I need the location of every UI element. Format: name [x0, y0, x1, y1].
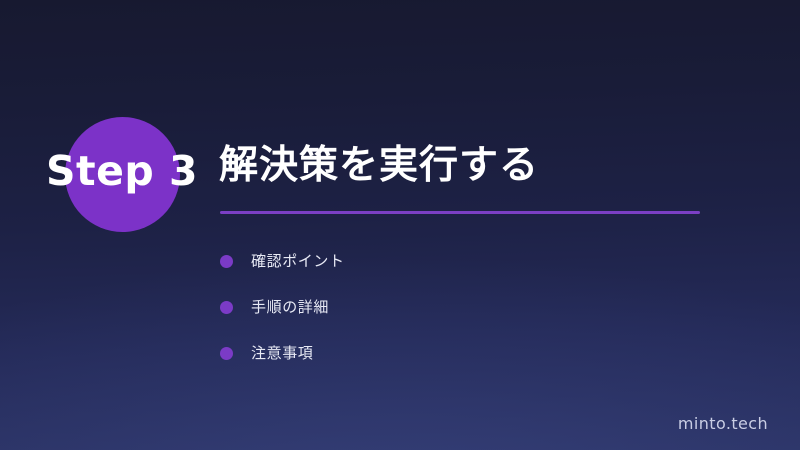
list-item-label: 確認ポイント — [251, 254, 345, 269]
bullet-dot-icon — [220, 347, 233, 360]
title-divider-rule — [220, 211, 700, 214]
bullet-list: 確認ポイント 手順の詳細 注意事項 — [220, 238, 690, 376]
presentation-slide: Step 3 解決策を実行する 確認ポイント 手順の詳細 注意事項 minto.… — [0, 0, 800, 450]
list-item-label: 手順の詳細 — [251, 300, 329, 315]
list-item-label: 注意事項 — [251, 346, 313, 361]
list-item: 注意事項 — [220, 330, 690, 376]
footer-brand: minto.tech — [678, 416, 768, 432]
bullet-dot-icon — [220, 301, 233, 314]
list-item: 確認ポイント — [220, 238, 690, 284]
step-label: Step 3 — [46, 151, 198, 192]
slide-title: 解決策を実行する — [219, 143, 539, 189]
bullet-dot-icon — [220, 255, 233, 268]
list-item: 手順の詳細 — [220, 284, 690, 330]
